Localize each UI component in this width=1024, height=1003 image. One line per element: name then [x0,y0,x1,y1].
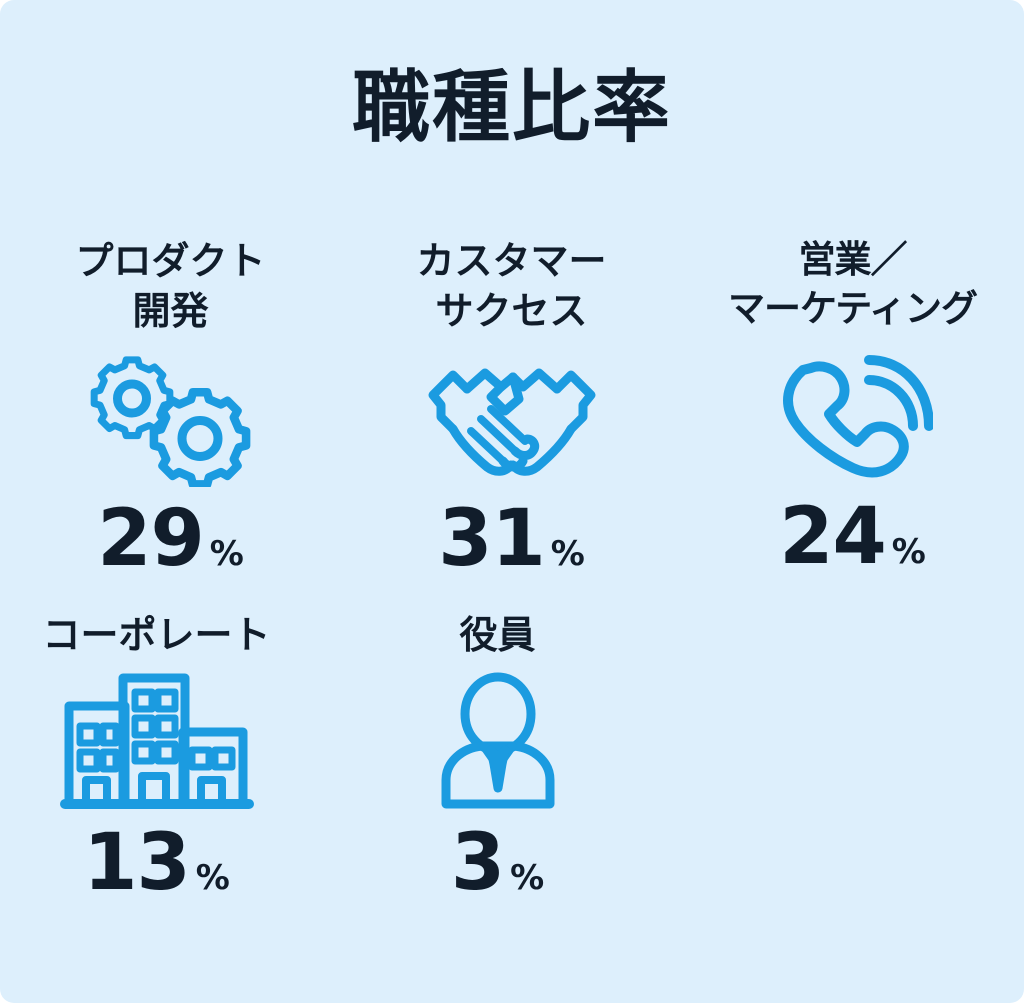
stat-item-sales-marketing: 営業／ マーケティング 24 % [682,236,1023,578]
percent-symbol: % [892,535,926,569]
stat-item-executive: 役員 3 % [327,610,668,902]
stat-value: 24 % [779,498,926,576]
stat-number: 31 [438,500,545,578]
stat-number: 29 [97,500,204,578]
percent-symbol: % [510,861,544,895]
page-title: 職種比率 [0,68,1024,150]
person-suit-icon [438,666,558,816]
stat-number: 24 [779,498,886,576]
stat-item-customer-success: カスタマー サクセス [341,236,682,578]
stat-number: 13 [83,824,190,902]
gears-icon [76,342,266,492]
percent-symbol: % [551,537,585,571]
phone-ring-icon [773,340,933,490]
stat-label: プロダクト 開発 [75,236,265,336]
handshake-icon [427,342,597,492]
stat-label: コーポレート [42,610,270,660]
stat-label: 役員 [459,610,535,660]
buildings-icon [59,666,254,816]
stat-number: 3 [451,824,504,902]
stat-value: 29 % [97,500,244,578]
stat-item-product-development: プロダクト 開発 29 % [0,236,341,578]
stat-value: 3 % [451,824,544,902]
percent-symbol: % [196,861,230,895]
stat-label: カスタマー サクセス [416,236,606,336]
stat-label: 営業／ マーケティング [728,236,977,334]
percent-symbol: % [210,537,244,571]
infographic-card: 職種比率 プロダクト 開発 [0,0,1024,1003]
stat-item-empty [682,610,1023,902]
stat-item-corporate: コーポレート [0,610,327,902]
stat-value: 13 % [83,824,230,902]
job-ratio-grid: プロダクト 開発 29 % [0,236,1024,902]
stat-value: 31 % [438,500,585,578]
